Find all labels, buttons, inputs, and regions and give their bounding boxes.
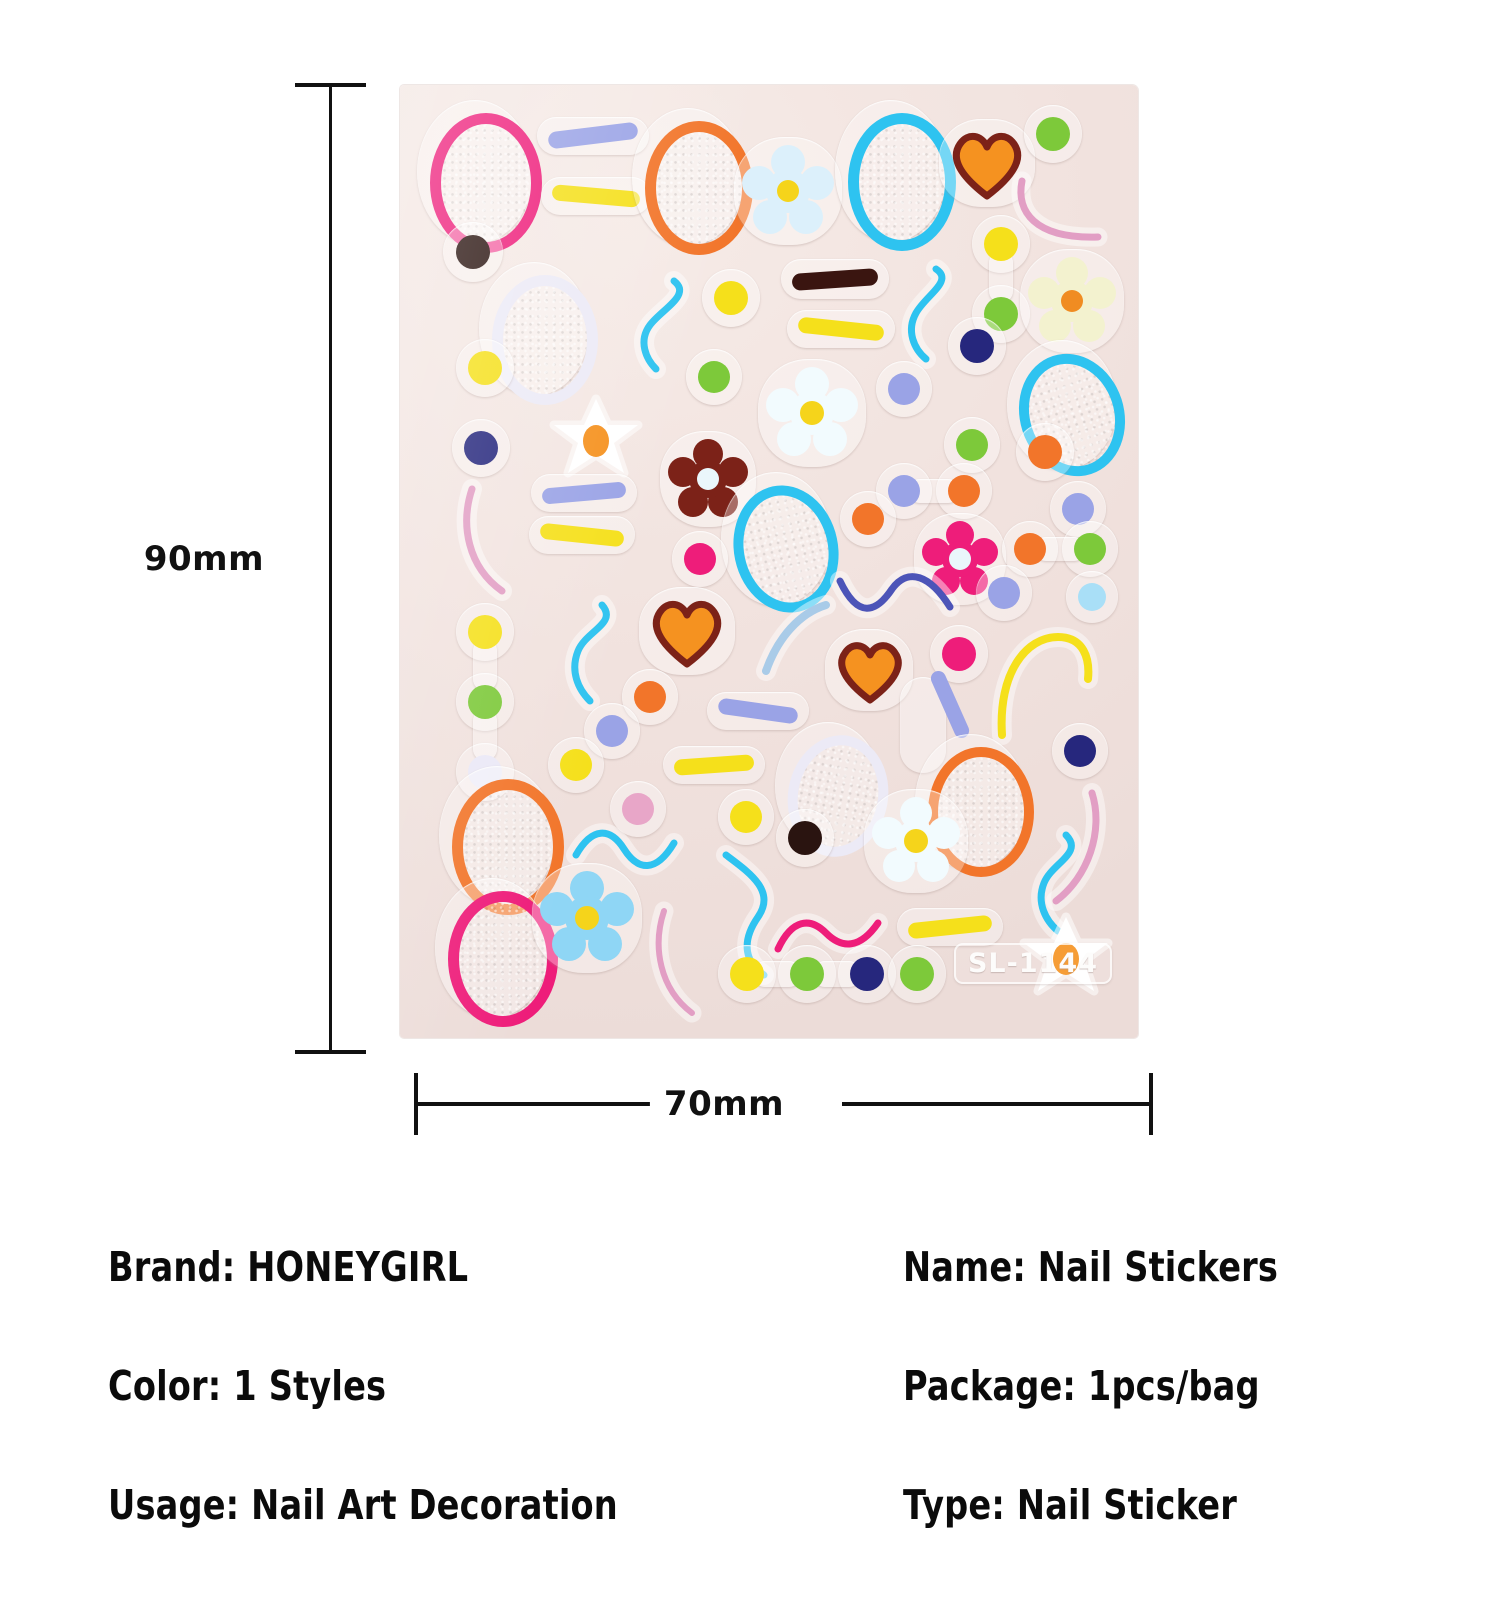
product-detail-image: 90mm: [0, 0, 1500, 1595]
height-dimension-label: 90mm: [136, 533, 272, 585]
height-dimension-line: [329, 83, 332, 1054]
spec-row: Usage: Nail Art Decoration Type: Nail St…: [0, 1481, 1500, 1600]
product-code-label: SL-1144: [954, 943, 1112, 984]
nail-sticker-sheet: SL-1144: [400, 85, 1138, 1038]
spec-color: Color: 1 Styles: [108, 1362, 386, 1410]
spec-brand: Brand: HONEYGIRL: [108, 1243, 468, 1291]
spec-row: Color: 1 Styles Package: 1pcs/bag: [0, 1362, 1500, 1481]
spec-type: Type: Nail Sticker: [903, 1481, 1237, 1529]
spec-package: Package: 1pcs/bag: [903, 1362, 1260, 1410]
product-specifications: Brand: HONEYGIRL Name: Nail Stickers Col…: [0, 1243, 1500, 1600]
spec-name: Name: Nail Stickers: [903, 1243, 1278, 1291]
width-dimension-label: 70mm: [650, 1084, 798, 1124]
width-dimension-cap-right: [1149, 1073, 1153, 1135]
spec-usage: Usage: Nail Art Decoration: [108, 1481, 618, 1529]
width-dimension-line-right: [842, 1102, 1152, 1106]
spec-row: Brand: HONEYGIRL Name: Nail Stickers: [0, 1243, 1500, 1362]
height-dimension-cap-bottom: [295, 1050, 366, 1054]
